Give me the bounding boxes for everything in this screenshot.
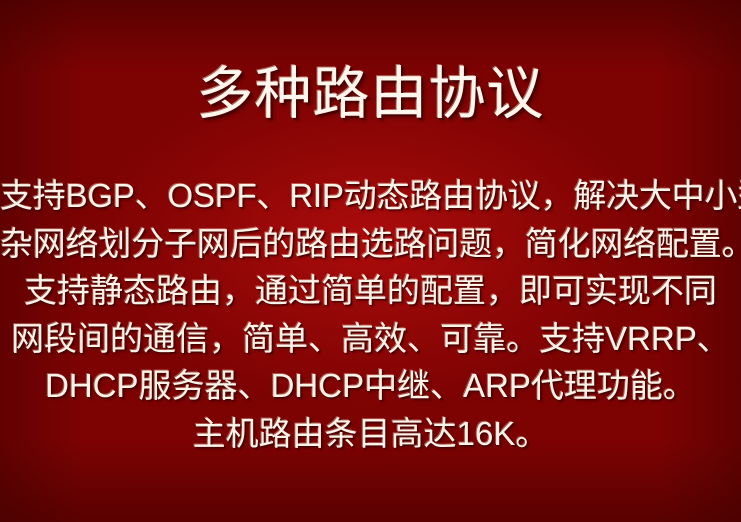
- description-line: 支持BGP、OSPF、RIP动态路由协议，解决大中小型复: [0, 172, 741, 220]
- description-line: 主机路由条目高达16K。: [0, 410, 741, 458]
- description-line: 支持静态路由，通过简单的配置，即可实现不同: [0, 267, 741, 315]
- description-line: 网段间的通信，简单、高效、可靠。支持VRRP、: [0, 315, 741, 363]
- banner-content: 多种路由协议 支持BGP、OSPF、RIP动态路由协议，解决大中小型复 杂网络划…: [0, 0, 741, 522]
- description-line: DHCP服务器、DHCP中继、ARP代理功能。: [0, 362, 741, 410]
- page-title: 多种路由协议: [0, 62, 741, 126]
- description-block: 支持BGP、OSPF、RIP动态路由协议，解决大中小型复 杂网络划分子网后的路由…: [0, 172, 741, 457]
- description-line: 杂网络划分子网后的路由选路问题，简化网络配置。: [0, 220, 741, 268]
- promo-banner: 多种路由协议 支持BGP、OSPF、RIP动态路由协议，解决大中小型复 杂网络划…: [0, 0, 741, 522]
